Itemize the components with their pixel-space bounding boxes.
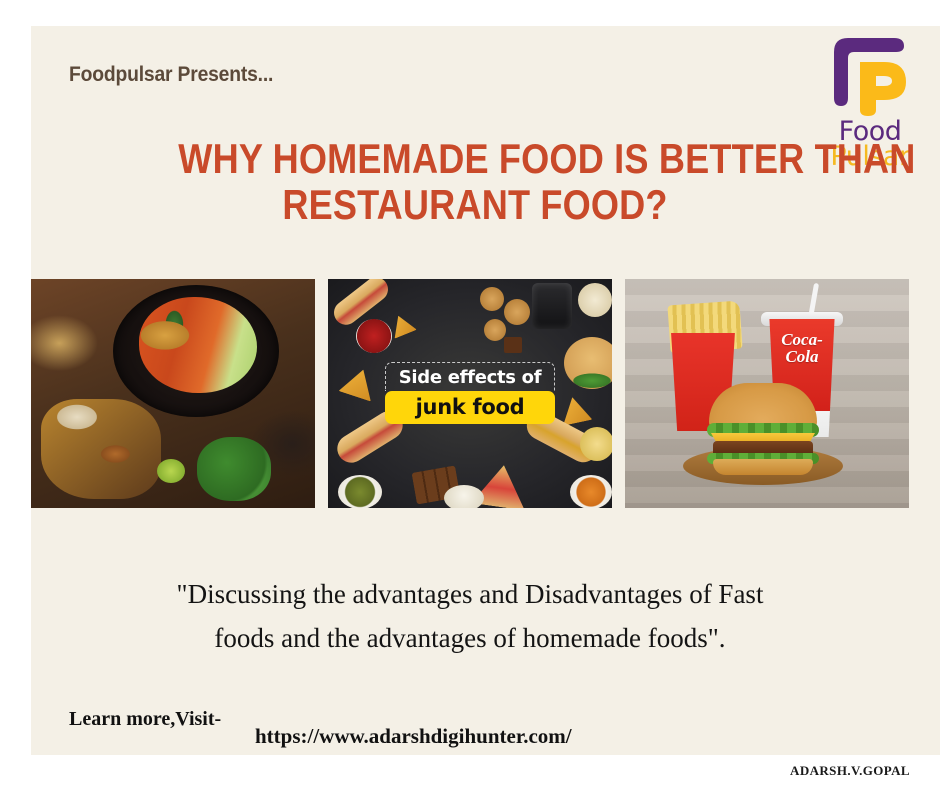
photo2-fries (580, 427, 612, 461)
photo-homemade-mexican-spread (31, 279, 315, 508)
photo3-burger-bun-bottom (713, 459, 813, 475)
quote-line-1: "Discussing the advantages and Disadvant… (100, 572, 840, 616)
credit-author: ADARSH.V.GOPAL (790, 763, 910, 779)
quote-text: "Discussing the advantages and Disadvant… (100, 572, 840, 660)
photo2-cookie-1 (480, 287, 504, 311)
photo2-dip-bowl (444, 485, 484, 508)
photo2-cola-glass (532, 283, 572, 329)
learn-more-label: Learn more,Visit- (69, 708, 221, 731)
photo2-cookie-2 (504, 299, 530, 325)
website-url-link[interactable]: https://www.adarshdigihunter.com/ (255, 724, 572, 749)
photo2-ketchup-bowl (356, 319, 392, 353)
photo2-burger-right (564, 337, 612, 389)
photo3-cola-logo-text: Coca-Cola (777, 331, 827, 365)
quote-line-2: foods and the advantages of homemade foo… (100, 616, 840, 660)
junk-label-line-2: junk food (385, 391, 555, 424)
photo3-cheeseburger (709, 383, 817, 469)
photo2-fruit-bowl (570, 475, 612, 508)
photo-fast-food-combo: Coca-Cola (625, 279, 909, 508)
photo1-detail-dish (41, 399, 161, 499)
photo1-detail-lime (157, 459, 185, 483)
headline-line-1: WHY HOMEMADE FOOD IS BETTER THAN (178, 136, 771, 182)
photo2-olives-bowl (338, 475, 382, 508)
headline: WHY HOMEMADE FOOD IS BETTER THAN RESTAUR… (178, 136, 771, 228)
junk-food-label: Side effects of junk food (385, 362, 555, 424)
junk-label-line-1: Side effects of (385, 362, 555, 391)
photo-strip: Side effects of junk food Coca-Cola (31, 279, 909, 508)
credit-bar: ADARSH.V.GOPAL (0, 757, 940, 788)
photo1-detail-greens (197, 437, 271, 501)
poster: Foodpulsar Presents... Food Pulsar WHY H… (0, 0, 940, 788)
photo2-cookie-3 (484, 319, 506, 341)
photo2-popcorn-bowl (578, 283, 612, 317)
photo2-nacho-2 (339, 364, 380, 401)
logo-mark-icon (820, 32, 920, 116)
photo2-burger-top (416, 283, 468, 331)
headline-line-2: RESTAURANT FOOD? (178, 182, 771, 228)
photo2-chocolate-piece (504, 337, 522, 353)
kicker-text: Foodpulsar Presents... (69, 63, 273, 87)
photo-junk-food-flatlay: Side effects of junk food (328, 279, 612, 508)
